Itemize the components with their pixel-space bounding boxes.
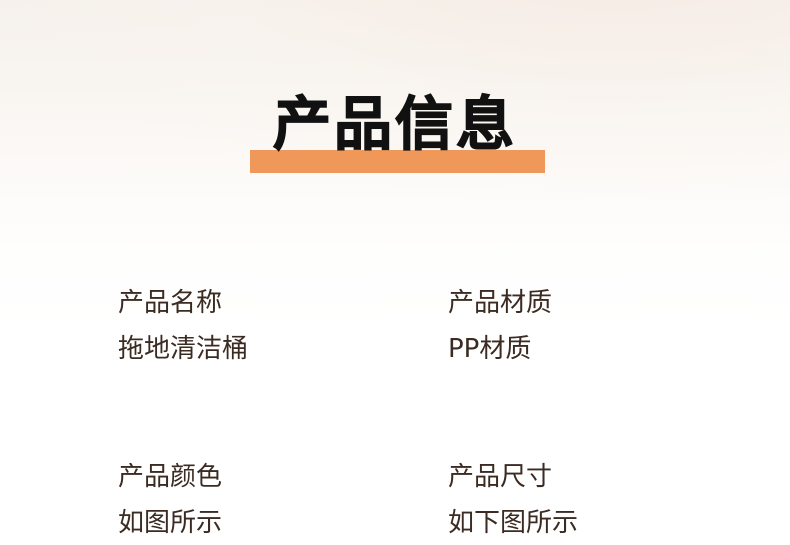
info-label: 产品名称 — [118, 281, 448, 325]
product-info-grid: 产品名称 拖地清洁桶 产品材质 PP材质 产品颜色 如图所示 产品尺寸 如下图所… — [118, 281, 678, 545]
product-info-page: 产品信息 产品名称 拖地清洁桶 产品材质 PP材质 产品颜色 如图所示 产品尺寸… — [0, 0, 790, 545]
page-title-block: 产品信息 — [0, 88, 790, 180]
info-cell-product-color: 产品颜色 如图所示 — [118, 455, 448, 545]
info-label: 产品颜色 — [118, 455, 448, 499]
info-row: 产品颜色 如图所示 产品尺寸 如下图所示 — [118, 455, 678, 545]
info-label: 产品尺寸 — [448, 455, 678, 499]
info-value: 如下图所示 — [448, 501, 678, 545]
page-title: 产品信息 — [0, 88, 790, 160]
info-cell-product-size: 产品尺寸 如下图所示 — [448, 455, 678, 545]
info-value: 如图所示 — [118, 501, 448, 545]
info-cell-product-name: 产品名称 拖地清洁桶 — [118, 281, 448, 371]
info-label: 产品材质 — [448, 281, 678, 325]
info-row: 产品名称 拖地清洁桶 产品材质 PP材质 — [118, 281, 678, 371]
info-cell-product-material: 产品材质 PP材质 — [448, 281, 678, 371]
info-value: PP材质 — [448, 327, 678, 371]
info-value: 拖地清洁桶 — [118, 327, 448, 371]
